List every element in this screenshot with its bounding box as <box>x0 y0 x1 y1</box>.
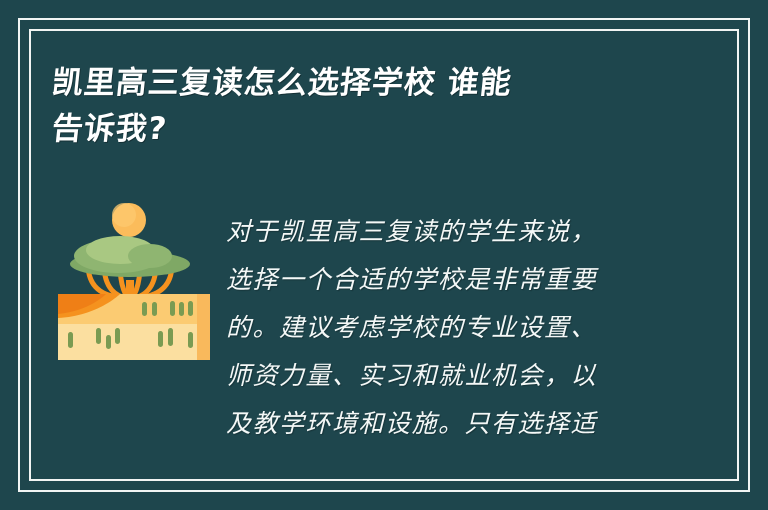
title-line-1: 凯里高三复读怎么选择学校 谁能 <box>50 60 665 106</box>
title-line-2: 告诉我? <box>50 106 665 152</box>
body-paragraph: 对于凯里高三复读的学生来说， 选择一个合适的学校是非常重要 的。建议考虑学校的专… <box>226 208 656 448</box>
acacia-tree-canopy <box>70 236 190 277</box>
body-line-2: 选择一个合适的学校是非常重要 <box>226 256 656 304</box>
poster-card: 凯里高三复读怎么选择学校 谁能 告诉我? <box>0 0 768 510</box>
body-line-4: 师资力量、实习和就业机会，以 <box>226 352 656 400</box>
body-line-1: 对于凯里高三复读的学生来说， <box>226 208 656 256</box>
page-title: 凯里高三复读怎么选择学校 谁能 告诉我? <box>52 60 662 152</box>
body-line-3: 的。建议考虑学校的专业设置、 <box>226 304 656 352</box>
savanna-illustration <box>58 198 210 360</box>
sun-icon <box>112 203 146 237</box>
body-line-5: 及教学环境和设施。只有选择适 <box>226 400 656 448</box>
